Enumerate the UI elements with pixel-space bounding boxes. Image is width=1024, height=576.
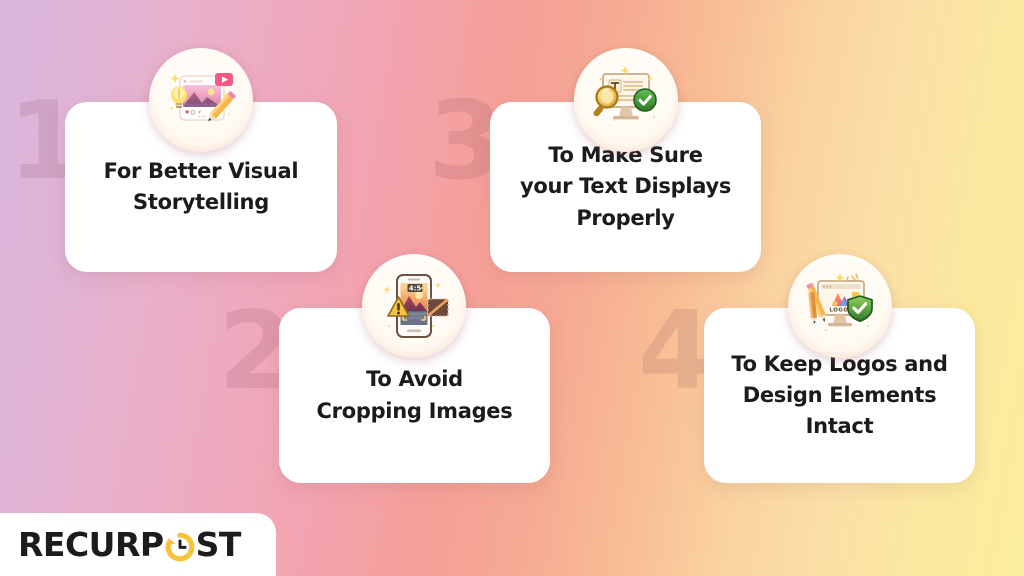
brand-logo-text-before: RECURP xyxy=(18,528,164,561)
brand-logo-text-after: ST xyxy=(196,528,241,561)
brand-logo: RECURP ST xyxy=(18,528,241,561)
card-3-badge xyxy=(574,48,678,152)
phone-crop-warning-icon: 4:5 xyxy=(376,268,452,344)
social-post-idea-icon xyxy=(163,62,239,138)
card-4-title: To Keep Logos and Design Elements Intact xyxy=(717,349,961,442)
card-2-title: To Avoid Cropping Images xyxy=(303,364,527,426)
watermark-number-4: 4 xyxy=(638,298,711,406)
card-1-title: For Better Visual Storytelling xyxy=(90,156,313,218)
svg-text:4:5: 4:5 xyxy=(409,284,422,292)
card-1-badge xyxy=(149,48,253,152)
brand-logo-bar[interactable]: RECURP ST xyxy=(0,513,276,576)
monitor-text-check-icon xyxy=(588,62,664,138)
logo-shield-monitor-icon: LOGO xyxy=(802,268,878,344)
svg-text:LOGO: LOGO xyxy=(829,308,848,314)
card-4-badge: LOGO xyxy=(788,254,892,358)
card-3-title: To Make Sure your Text Displays Properly xyxy=(506,140,745,233)
infographic-canvas: 1 2 3 4 For Better Visual Storytelling xyxy=(0,0,1024,576)
recurpost-clock-icon xyxy=(165,532,195,562)
card-2-badge: 4:5 xyxy=(362,254,466,358)
